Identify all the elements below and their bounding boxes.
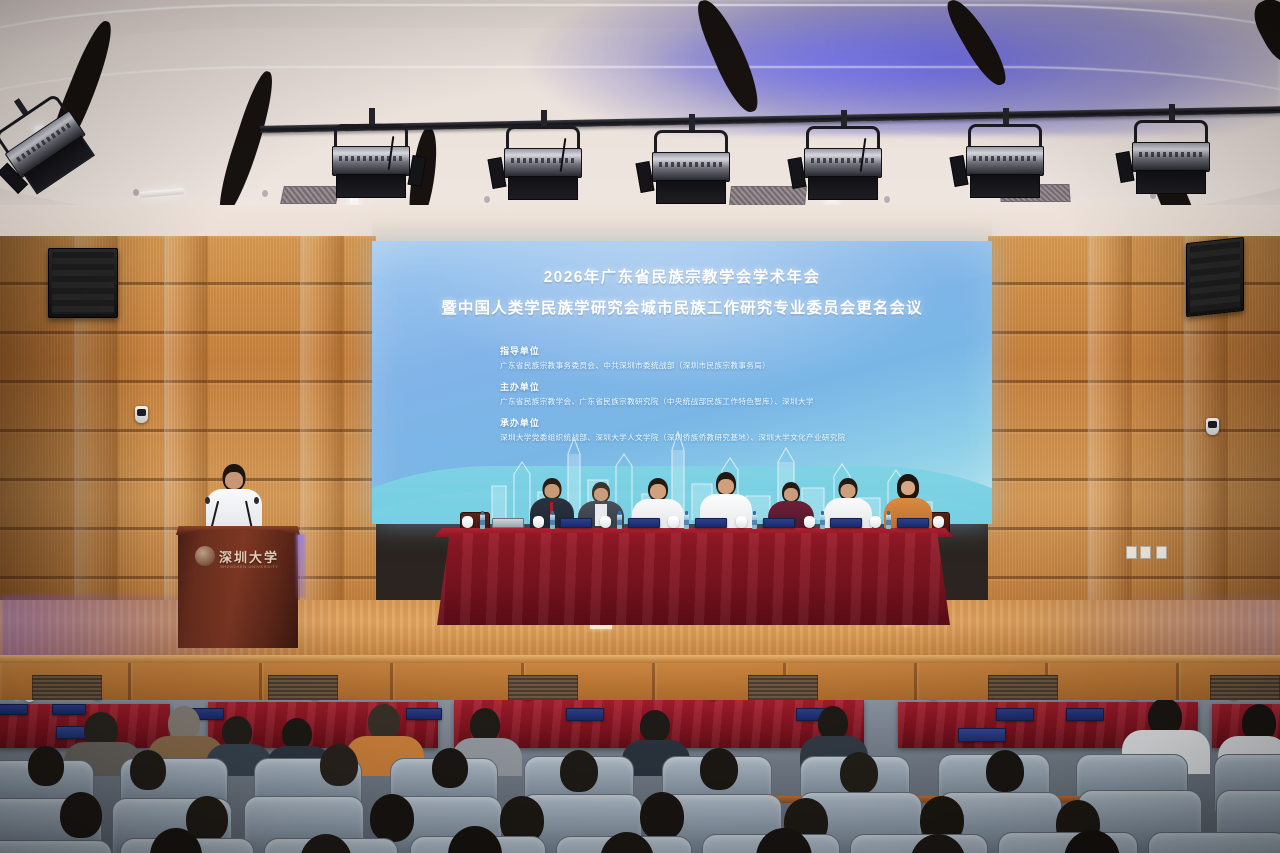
water-bottle: [617, 514, 622, 529]
teacup: [870, 518, 881, 528]
ceiling-downlight: [133, 189, 139, 196]
microphone-head: [205, 497, 210, 504]
audience-head: [320, 744, 358, 786]
conference-title-line2: 暨中国人类学民族学研究会城市民族工作研究专业委员会更名会议: [388, 296, 976, 318]
fresnel-stage-light: [328, 116, 414, 198]
organization-group-host: 主办单位 广东省民族宗教学会、广东省民族宗教研究院（中央统战部民族工作特色智库）…: [500, 380, 976, 407]
audience-head: [840, 752, 878, 794]
laptop: [492, 518, 524, 528]
teacup: [668, 518, 679, 528]
organization-group-organizer: 承办单位 深圳大学党委组织统战部、深圳大学人文学院（深圳侨族侨教研究基地）、深圳…: [500, 416, 976, 443]
org-value-host: 广东省民族宗教学会、广东省民族宗教研究院（中央统战部民族工作特色智库）、深圳大学: [500, 396, 976, 407]
name-placard: [695, 518, 727, 528]
audience-head: [818, 706, 848, 740]
wall-speaker-array: [48, 248, 118, 318]
university-seal-icon: [195, 546, 215, 566]
organization-block: 指导单位 广东省民族宗教事务委员会、中共深圳市委统战部（深圳市民族宗教事务局） …: [388, 344, 976, 443]
teacup: [533, 518, 544, 528]
water-bottle: [14, 700, 19, 701]
name-placard: [0, 704, 28, 715]
water-bottle: [550, 514, 555, 529]
name-placard: [897, 518, 929, 528]
fixture-housing: [504, 148, 582, 178]
name-placard: [52, 704, 86, 715]
speaker-face: [225, 472, 243, 489]
conference-title-line1: 2026年广东省民族宗教学会学术年会: [388, 265, 976, 287]
teacup: [933, 518, 944, 528]
wall-switch-plate[interactable]: [1126, 546, 1137, 559]
microphone-head: [254, 497, 259, 504]
audience-head: [560, 750, 598, 792]
audience-head: [640, 710, 670, 742]
panelist-face: [841, 484, 856, 498]
fixture-barn-door: [336, 174, 406, 198]
fixture-housing: [1132, 142, 1210, 172]
fixture-barn-door: [656, 180, 726, 204]
audience-head: [470, 708, 500, 742]
teacup: [24, 700, 35, 702]
fixture-housing: [332, 146, 410, 176]
org-value-guidance: 广东省民族宗教事务委员会、中共深圳市委统战部（深圳市民族宗教事务局）: [500, 360, 976, 371]
org-label-host: 主办单位: [500, 380, 976, 393]
audience-head: [168, 706, 200, 740]
water-bottle: [752, 514, 757, 529]
teacup: [804, 518, 815, 528]
panelist-face: [901, 481, 915, 495]
name-placard: [830, 518, 862, 528]
wall-camera: [1206, 418, 1219, 435]
screen-text-content: 2026年广东省民族宗教学会学术年会 暨中国人类学民族学研究会城市民族工作研究专…: [372, 241, 992, 452]
ceiling-downlight: [484, 196, 490, 203]
podium-university-name-sub: SHENZHEN UNIVERSITY: [220, 564, 279, 569]
audience-head: [640, 792, 684, 840]
fixture-barn-door: [508, 176, 578, 200]
fixture-housing: [804, 148, 882, 178]
fixture-barn-door: [808, 176, 878, 200]
stage-purple-wash: [980, 598, 1280, 660]
name-placard: [566, 708, 604, 721]
ceiling-downlight: [262, 190, 268, 197]
conference-hall-photo: 2026年广东省民族宗教学会学术年会 暨中国人类学民族学研究会城市民族工作研究专…: [0, 0, 1280, 853]
audience-seat[interactable]: [1148, 832, 1280, 853]
wall-switch-plate[interactable]: [1140, 546, 1151, 559]
panel-table: [437, 533, 950, 625]
name-placard: [560, 518, 592, 528]
fresnel-stage-light: [500, 118, 586, 200]
audience-head: [60, 792, 102, 838]
org-label-organizer: 承办单位: [500, 416, 976, 429]
fresnel-stage-light: [648, 122, 734, 204]
fresnel-stage-light: [962, 116, 1048, 198]
panelist-face: [784, 488, 798, 501]
water-bottle: [684, 514, 689, 529]
name-placard: [1066, 708, 1104, 721]
water-bottle: [820, 514, 825, 529]
water-bottle: [480, 514, 485, 529]
wall-speaker-array: [1186, 237, 1244, 317]
wall-switch-plate[interactable]: [1156, 546, 1167, 559]
audience-head: [432, 748, 468, 788]
teacup: [462, 518, 473, 528]
wall-pilaster: [300, 236, 344, 656]
org-value-organizer: 深圳大学党委组织统战部、深圳大学人文学院（深圳侨族侨教研究基地）、深圳大学文化产…: [500, 432, 976, 443]
fresnel-stage-light: [800, 118, 886, 200]
audience-head: [130, 750, 166, 790]
water-bottle: [886, 514, 891, 529]
audience-area: [0, 700, 1280, 853]
audience-head: [370, 794, 414, 842]
panelist-face: [650, 484, 666, 499]
panelist-face: [545, 484, 560, 498]
name-placard: [406, 708, 442, 720]
audience-head: [28, 746, 64, 786]
panelist-face: [718, 479, 734, 494]
audience-head: [986, 750, 1024, 792]
wall-camera: [135, 406, 148, 423]
audience-head: [700, 748, 738, 790]
podium-edge-light: [296, 534, 305, 598]
name-placard: [958, 728, 1006, 742]
fixture-barn-door: [970, 174, 1040, 198]
teacup: [600, 518, 611, 528]
fresnel-stage-light: [1128, 112, 1214, 194]
org-label-guidance: 指导单位: [500, 344, 976, 357]
fixture-housing: [652, 152, 730, 182]
name-placard: [628, 518, 660, 528]
name-placard: [996, 708, 1034, 721]
name-placard: [763, 518, 795, 528]
audience-head: [368, 704, 400, 740]
panelist-face: [594, 488, 608, 501]
organization-group-guidance: 指导单位 广东省民族宗教事务委员会、中共深圳市委统战部（深圳市民族宗教事务局）: [500, 344, 976, 371]
wall-pilaster: [1088, 236, 1132, 656]
audience-seat[interactable]: [0, 840, 112, 853]
fixture-housing: [966, 146, 1044, 176]
ceiling-vent-grille: [729, 186, 807, 206]
teacup: [736, 518, 747, 528]
fixture-barn-door: [1136, 170, 1206, 194]
